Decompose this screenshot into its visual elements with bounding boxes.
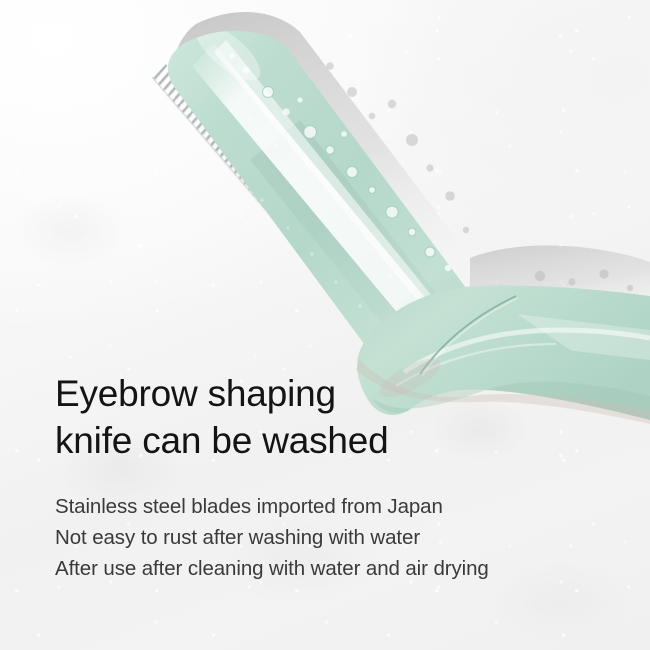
feature-list: Stainless steel blades imported from Jap… [55,491,595,584]
feature-item-3: After use after cleaning with water and … [55,553,595,584]
feature-item-2: Not easy to rust after washing with wate… [55,522,595,553]
page-title: Eyebrow shaping knife can be washed [55,370,595,464]
product-image: Eyebrow shaping knife can be washed Stai… [0,0,650,650]
marketing-copy: Eyebrow shaping knife can be washed Stai… [55,370,595,584]
feature-item-1: Stainless steel blades imported from Jap… [55,491,595,522]
